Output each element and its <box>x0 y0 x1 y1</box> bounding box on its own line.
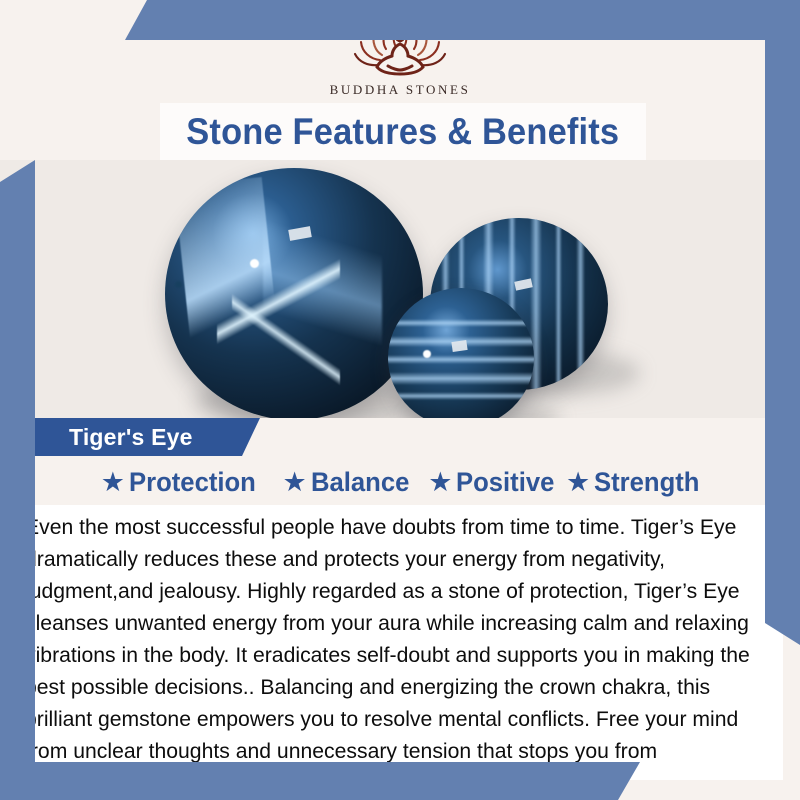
stone-sphere-large <box>165 168 423 418</box>
page-title: Stone Features & Benefits <box>187 111 620 153</box>
benefit-item-balance: ★ Balance <box>276 467 414 498</box>
decorative-bar-right <box>765 0 800 645</box>
decorative-bar-top <box>125 0 800 40</box>
benefit-item-positive: ★ Positive <box>422 467 560 498</box>
decorative-bar-left <box>0 160 35 800</box>
stone-photo <box>0 160 800 418</box>
benefits-row: ★ Protection ★ Balance ★ Positive ★ Stre… <box>0 462 800 502</box>
benefit-label: Protection <box>129 467 256 498</box>
stone-sphere-small <box>388 288 534 418</box>
benefit-item-strength: ★ Strength <box>560 467 705 498</box>
benefit-label: Positive <box>456 467 554 498</box>
decorative-bar-bottom <box>0 762 640 800</box>
benefit-label: Strength <box>594 467 699 498</box>
star-icon: ★ <box>282 469 306 496</box>
title-banner: Stone Features & Benefits <box>160 103 646 160</box>
stone-name-tag: Tiger's Eye <box>35 418 260 456</box>
star-icon: ★ <box>101 469 125 496</box>
stone-name-label: Tiger's Eye <box>69 424 193 451</box>
star-icon: ★ <box>566 469 590 496</box>
description-panel: Even the most successful people have dou… <box>17 505 783 780</box>
benefit-item-protection: ★ Protection <box>95 467 263 498</box>
benefit-label: Balance <box>311 467 409 498</box>
star-icon: ★ <box>428 469 452 496</box>
infographic-page: BUDDHA STONES Stone Features & Benefits <box>0 0 800 800</box>
description-text: Even the most successful people have dou… <box>25 511 762 799</box>
brand-name: BUDDHA STONES <box>330 82 471 98</box>
